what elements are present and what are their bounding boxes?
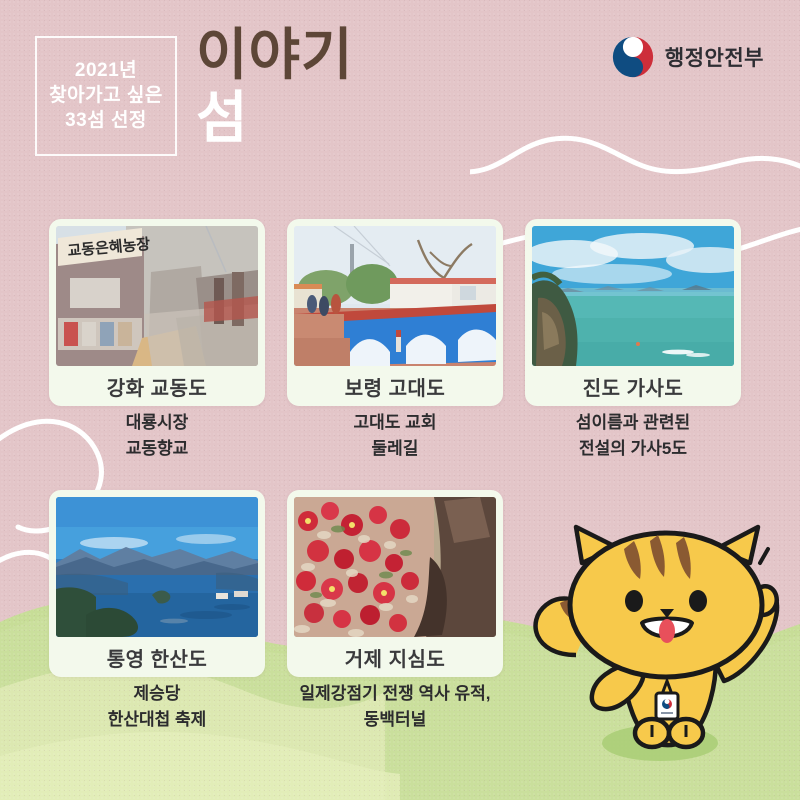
island-card[interactable]: 보령 고대도 xyxy=(287,219,503,406)
badge-line-2: 찾아가고 싶은 xyxy=(49,86,163,106)
island-caption: 대룡시장 교동향교 xyxy=(27,410,287,463)
island-name: 강화 교동도 xyxy=(56,366,258,406)
ministry-logo: 행정안전부 xyxy=(612,36,764,78)
caption-line-2: 전설의 가사5도 xyxy=(503,436,763,462)
caption-line-1: 섬이름과 관련된 xyxy=(503,410,763,436)
sea-cliff-photo xyxy=(532,226,734,366)
caption-line-1: 고대도 교회 xyxy=(265,410,525,436)
caption-line-2: 한산대첩 축제 xyxy=(27,707,287,733)
market-street-photo: 교동은혜농장 xyxy=(56,226,258,366)
island-name: 보령 고대도 xyxy=(294,366,496,406)
infographic-poster: 2021년 찾아가고 싶은 33섬 선정 이야기 섬 행정안전부 xyxy=(0,0,800,800)
caption-line-1: 대룡시장 xyxy=(27,410,287,436)
badge-line-1: 2021년 xyxy=(75,61,137,81)
cat-mascot xyxy=(520,505,800,790)
island-caption: 일제강점기 전쟁 역사 유적, 동백터널 xyxy=(265,681,525,734)
island-name: 거제 지심도 xyxy=(294,637,496,677)
caption-line-1: 제승당 xyxy=(27,681,287,707)
caption-line-1: 일제강점기 전쟁 역사 유적, xyxy=(265,681,525,707)
island-caption: 고대도 교회 둘레길 xyxy=(265,410,525,463)
island-card[interactable]: 통영 한산도 xyxy=(49,490,265,677)
mural-wall-photo xyxy=(294,226,496,366)
blue-bay-photo xyxy=(56,497,258,637)
island-card[interactable]: 진도 가사도 xyxy=(525,219,741,406)
island-card[interactable]: 교동은혜농장 강화 교동도 xyxy=(49,219,265,406)
caption-line-2: 동백터널 xyxy=(265,707,525,733)
page-title: 이야기 섬 xyxy=(196,28,354,146)
caption-line-2: 교동향교 xyxy=(27,436,287,462)
title-sub: 섬 xyxy=(196,90,354,146)
taegeuk-icon xyxy=(612,36,654,78)
ministry-name: 행정안전부 xyxy=(665,42,764,72)
island-caption: 섬이름과 관련된 전설의 가사5도 xyxy=(503,410,763,463)
caption-line-2: 둘레길 xyxy=(265,436,525,462)
poster-header: 2021년 찾아가고 싶은 33섬 선정 이야기 섬 행정안전부 xyxy=(0,0,800,190)
camellia-photo xyxy=(294,497,496,637)
island-name: 통영 한산도 xyxy=(56,637,258,677)
island-caption: 제승당 한산대첩 축제 xyxy=(27,681,287,734)
badge-line-3: 33섬 선정 xyxy=(65,111,147,131)
selection-badge: 2021년 찾아가고 싶은 33섬 선정 xyxy=(35,36,177,156)
island-card[interactable]: 거제 지심도 xyxy=(287,490,503,677)
title-main: 이야기 xyxy=(196,28,354,82)
island-name: 진도 가사도 xyxy=(532,366,734,406)
